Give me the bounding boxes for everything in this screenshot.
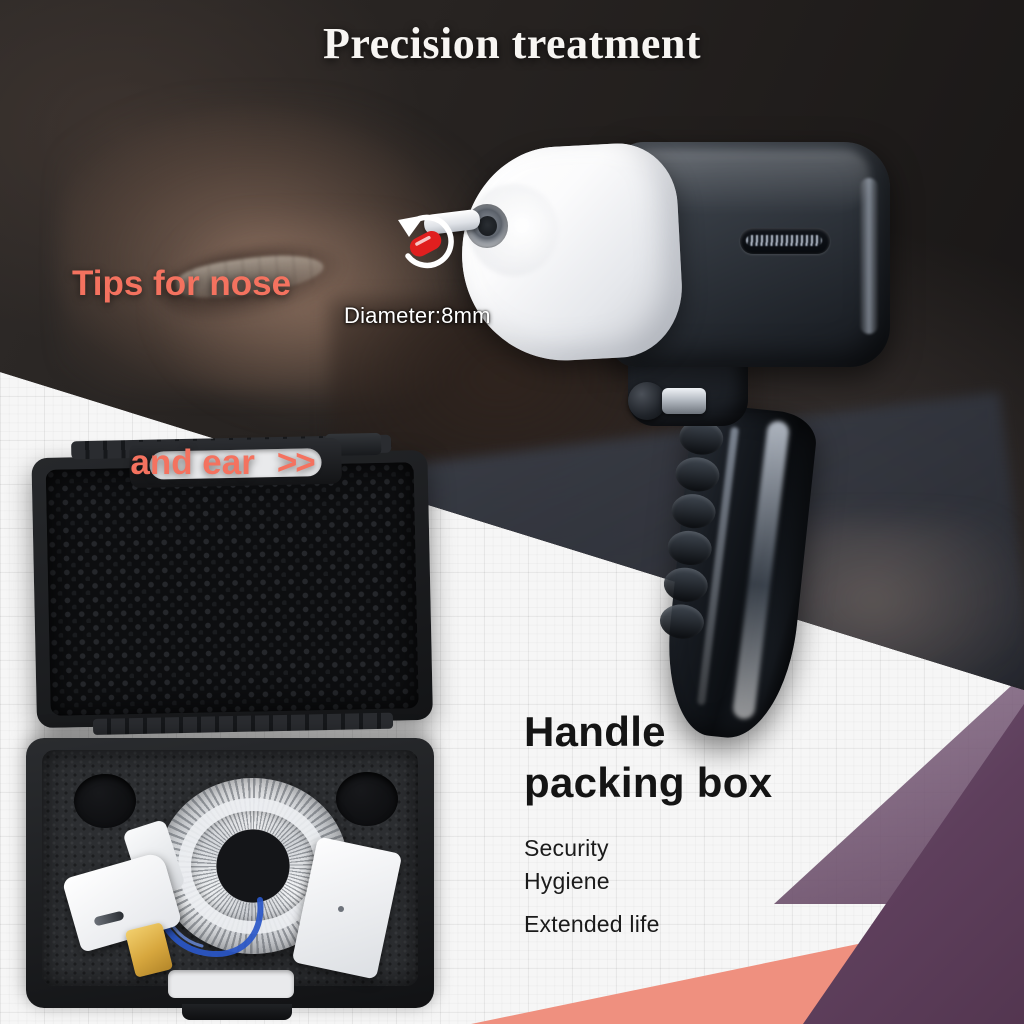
feature-item: Security (524, 832, 772, 865)
device-chrome-edge (860, 178, 878, 334)
case-foot (182, 1004, 292, 1020)
feature-item: Hygiene (524, 865, 772, 898)
connector-screw (338, 906, 344, 912)
packing-box-title: Handle packing box (524, 706, 772, 808)
grip-ridge (658, 602, 705, 640)
packing-box-title-line-2: packing box (524, 757, 772, 808)
device-chrome-clip (662, 388, 706, 414)
feature-item: Extended life (524, 908, 772, 941)
rotate-arrow-icon (392, 202, 466, 276)
feature-list: Security Hygiene Extended life (524, 832, 772, 940)
hard-case-base (26, 738, 434, 1024)
diameter-label: Diameter:8mm (344, 303, 491, 329)
chevron-double-right-icon[interactable]: >> (255, 443, 314, 482)
metal-nozzle-hole (478, 216, 497, 236)
laser-handpiece (430, 120, 950, 740)
packing-box-info: Handle packing box Security Hygiene Exte… (524, 706, 772, 940)
case-base-handle-cutout (168, 970, 294, 998)
tips-callout[interactable]: Tips for nose and ear>> (72, 172, 314, 620)
grip-ridge (662, 566, 709, 604)
foam-cutout-left (74, 774, 136, 828)
page-title: Precision treatment (0, 18, 1024, 69)
device-knob (628, 382, 666, 420)
poster-canvas: Precision treatment Tips for nose and ea… (0, 0, 1024, 1024)
tips-line-2: and ear (130, 443, 255, 482)
grip-ridge (674, 455, 721, 493)
foam-cutout-right (336, 772, 398, 826)
chrome-indicator-slot (740, 228, 830, 254)
tips-line-1: Tips for nose (72, 262, 314, 307)
grip-ridge (666, 529, 713, 567)
grip-ridge (670, 492, 717, 530)
packing-box-title-line-1: Handle (524, 706, 772, 757)
tips-line-2-row: and ear>> (72, 396, 314, 530)
